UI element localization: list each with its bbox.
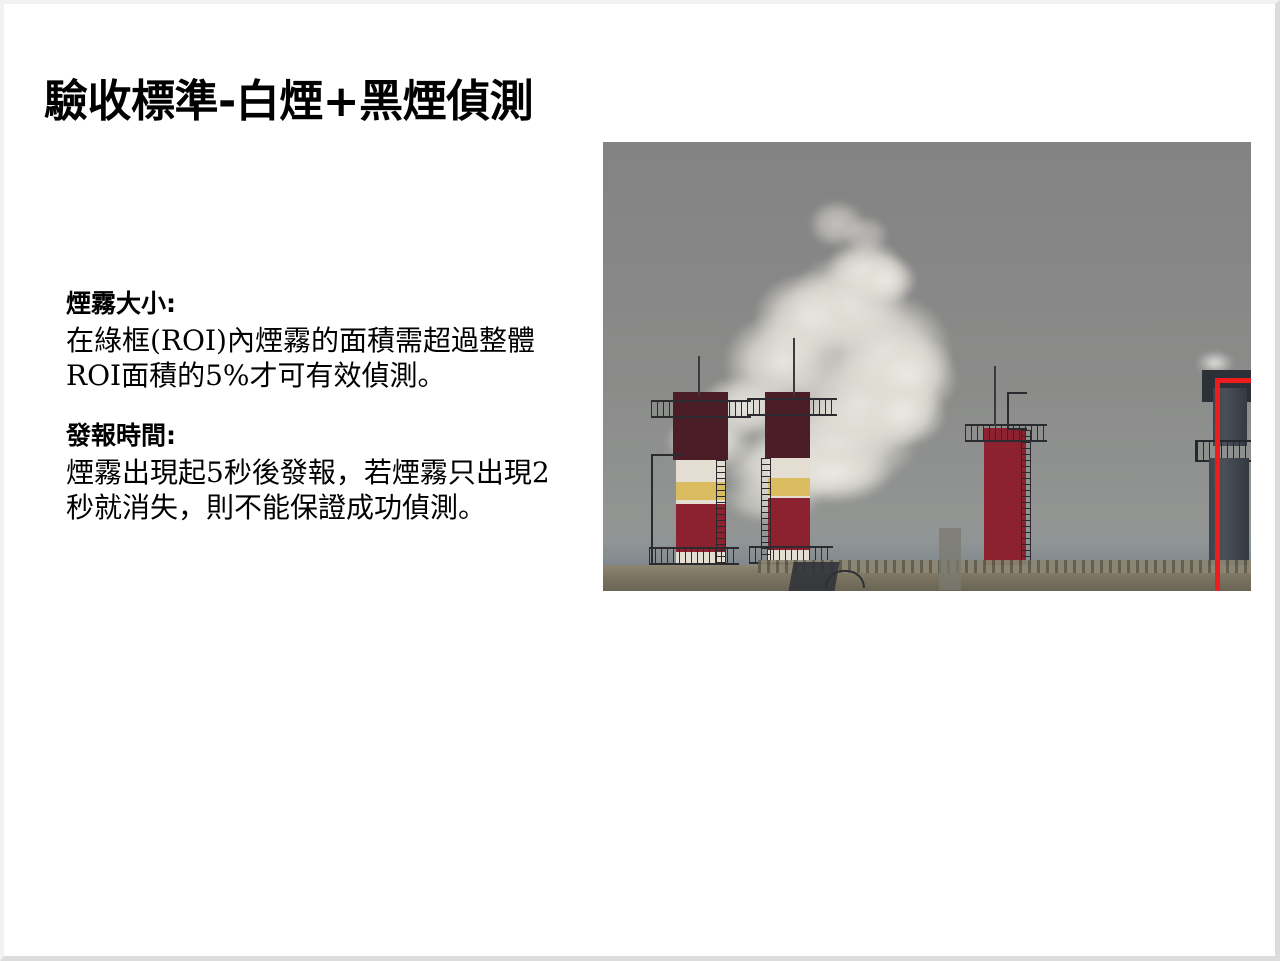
red-roi-box[interactable] bbox=[1215, 378, 1251, 591]
slide-frame: 驗收標準-白煙+黑煙偵測 煙霧大小: 在綠框(ROI)內煙霧的面積需超過整體RO… bbox=[0, 0, 1280, 961]
page-title: 驗收標準-白煙+黑煙偵測 bbox=[44, 76, 533, 128]
slide-canvas: 驗收標準-白煙+黑煙偵測 煙霧大小: 在綠框(ROI)內煙霧的面積需超過整體RO… bbox=[4, 4, 1275, 956]
content-block-smoke-size: 煙霧大小: 在綠框(ROI)內煙霧的面積需超過整體ROI面積的5%才可有效偵測。 bbox=[66, 287, 556, 393]
block-body-smoke-size: 在綠框(ROI)內煙霧的面積需超過整體ROI面積的5%才可有效偵測。 bbox=[66, 323, 556, 393]
block-body-alarm-time: 煙霧出現起5秒後發報，若煙霧只出現2秒就消失，則不能保證成功偵測。 bbox=[66, 455, 556, 525]
content-column: 煙霧大小: 在綠框(ROI)內煙霧的面積需超過整體ROI面積的5%才可有效偵測。… bbox=[66, 287, 556, 525]
content-block-alarm-time: 發報時間: 煙霧出現起5秒後發報，若煙霧只出現2秒就消失，則不能保證成功偵測。 bbox=[66, 419, 556, 525]
smokestack-photo bbox=[603, 142, 1251, 591]
block-heading-smoke-size: 煙霧大小: bbox=[66, 287, 556, 321]
distant-building bbox=[939, 528, 961, 590]
block-heading-alarm-time: 發報時間: bbox=[66, 419, 556, 453]
